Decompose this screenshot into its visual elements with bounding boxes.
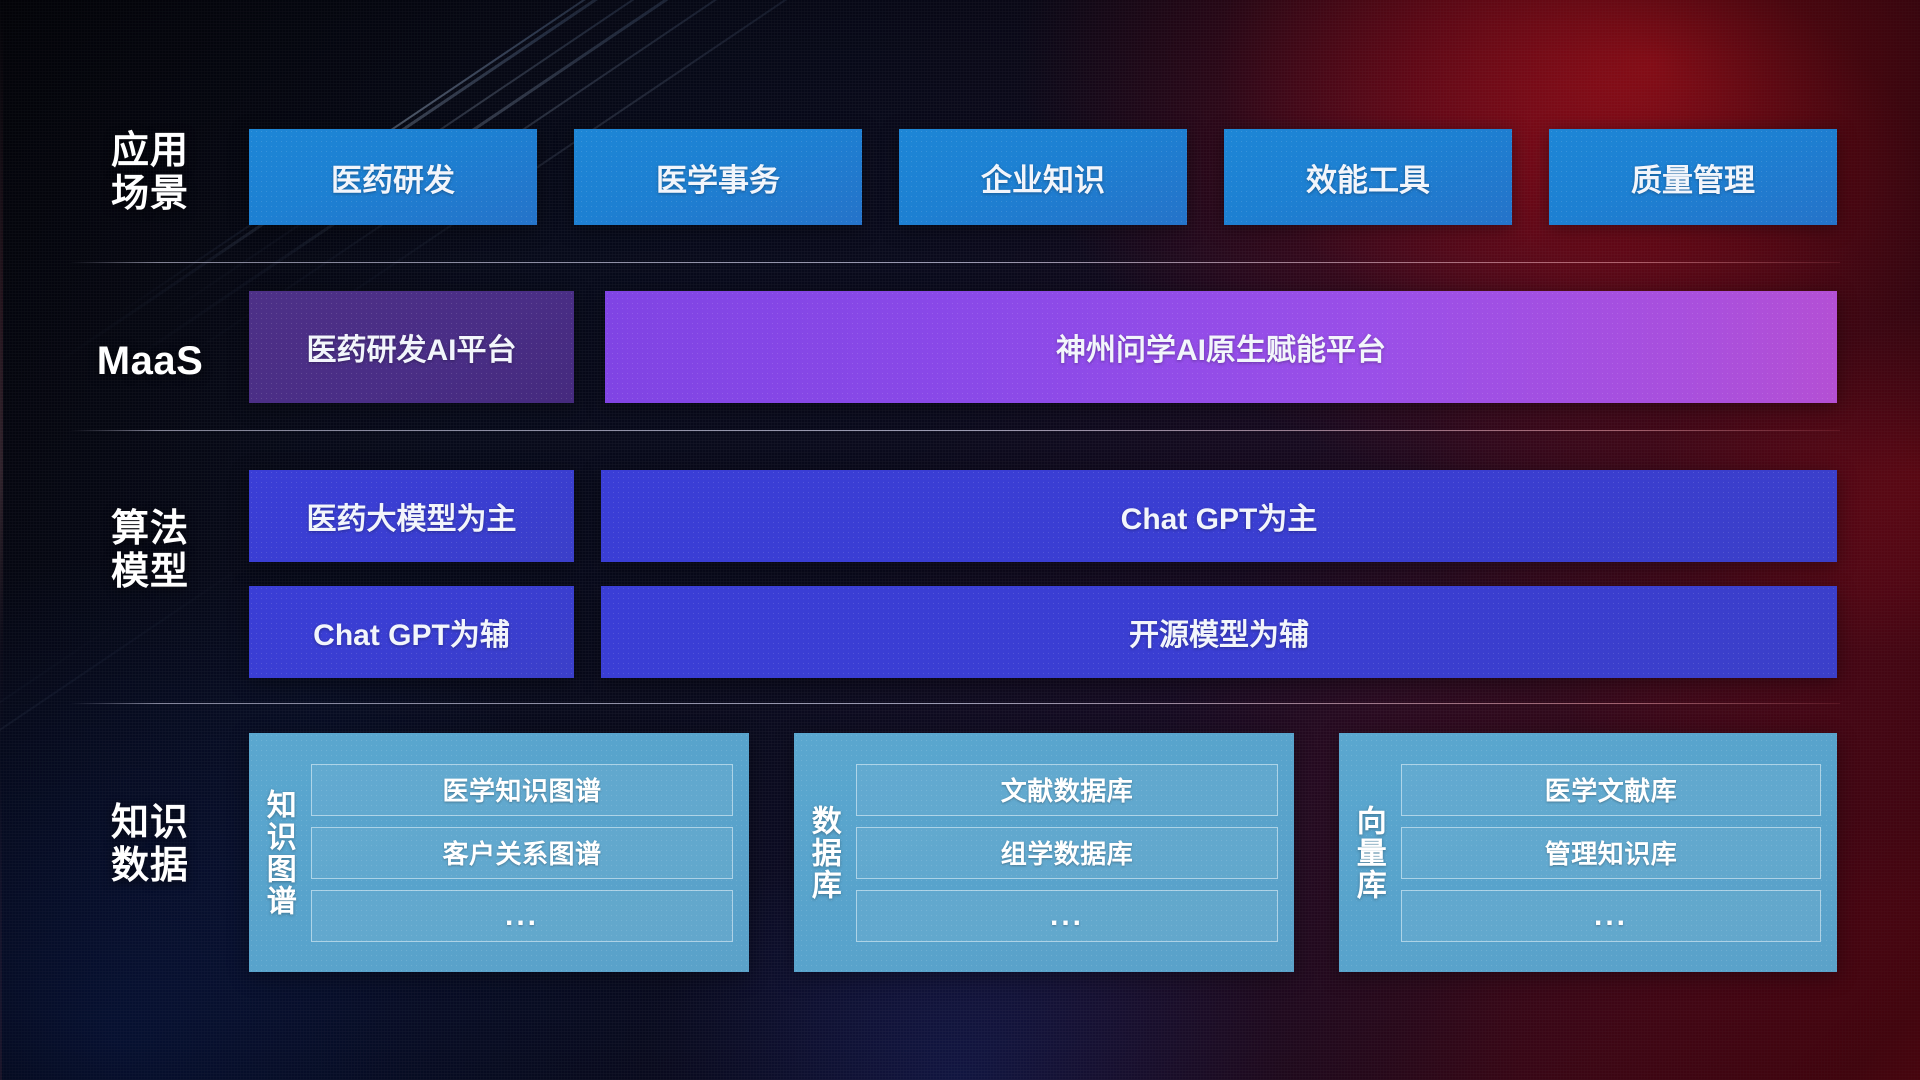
app-scenario-card-2[interactable]: 医学事务 xyxy=(574,129,862,225)
slide-canvas: 应用 场景 医药研发 医学事务 企业知识 效能工具 质量管理 MaaS xyxy=(0,0,1920,1080)
app-scenario-card-3-label: 企业知识 xyxy=(981,155,1105,200)
knowledge-item[interactable]: 管理知识库 xyxy=(1401,827,1821,879)
row-label-knowledge-line2: 数据 xyxy=(70,845,230,888)
algorithm-card-right-2-label: 开源模型为辅 xyxy=(1129,610,1309,654)
knowledge-panel-database-items: 文献数据库 组学数据库 ... xyxy=(852,733,1294,972)
algorithm-card-left-2-label: Chat GPT为辅 xyxy=(313,610,510,654)
knowledge-panel-vector-vertical-label: 向量库 xyxy=(1339,733,1397,972)
app-scenario-card-1[interactable]: 医药研发 xyxy=(249,129,537,225)
knowledge-item[interactable]: 医学知识图谱 xyxy=(311,764,733,816)
algorithm-card-left-2[interactable]: Chat GPT为辅 xyxy=(249,586,574,678)
row-label-algorithm-line2: 模型 xyxy=(70,551,230,594)
row-label-algorithm: 算法 模型 xyxy=(70,508,230,595)
knowledge-panel-database[interactable]: 数据库 文献数据库 组学数据库 ... xyxy=(794,733,1294,972)
row-label-knowledge: 知识 数据 xyxy=(70,802,230,889)
maas-card-shenzhou-platform[interactable]: 神州问学AI原生赋能平台 xyxy=(605,291,1837,403)
algorithm-card-left-1-label: 医药大模型为主 xyxy=(307,494,517,538)
app-scenario-card-4-label: 效能工具 xyxy=(1306,155,1430,200)
knowledge-item[interactable]: 组学数据库 xyxy=(856,827,1278,879)
knowledge-panel-graph-vertical-label: 知识图谱 xyxy=(249,733,307,972)
algorithm-card-right-1[interactable]: Chat GPT为主 xyxy=(601,470,1837,562)
algorithm-card-left-1[interactable]: 医药大模型为主 xyxy=(249,470,574,562)
knowledge-panel-graph[interactable]: 知识图谱 医学知识图谱 客户关系图谱 ... xyxy=(249,733,749,972)
knowledge-panel-vector-items: 医学文献库 管理知识库 ... xyxy=(1397,733,1837,972)
app-scenario-card-4[interactable]: 效能工具 xyxy=(1224,129,1512,225)
knowledge-item[interactable]: 文献数据库 xyxy=(856,764,1278,816)
knowledge-item-more[interactable]: ... xyxy=(311,890,733,942)
knowledge-panel-graph-items: 医学知识图谱 客户关系图谱 ... xyxy=(307,733,749,972)
knowledge-item[interactable]: 客户关系图谱 xyxy=(311,827,733,879)
app-scenario-card-3[interactable]: 企业知识 xyxy=(899,129,1187,225)
app-scenario-card-2-label: 医学事务 xyxy=(656,155,780,200)
row-label-application-line1: 应用 xyxy=(70,130,230,173)
divider-maas-algorithm xyxy=(70,430,1840,431)
app-scenario-card-1-label: 医药研发 xyxy=(331,155,455,200)
architecture-diagram: 应用 场景 医药研发 医学事务 企业知识 效能工具 质量管理 MaaS xyxy=(0,0,1920,1080)
row-label-application-line2: 场景 xyxy=(70,173,230,216)
knowledge-panel-vector[interactable]: 向量库 医学文献库 管理知识库 ... xyxy=(1339,733,1837,972)
algorithm-card-right-2[interactable]: 开源模型为辅 xyxy=(601,586,1837,678)
row-label-algorithm-line1: 算法 xyxy=(70,508,230,551)
row-label-knowledge-line1: 知识 xyxy=(70,802,230,845)
algorithm-card-right-1-label: Chat GPT为主 xyxy=(1121,494,1318,538)
maas-card-shenzhou-platform-label: 神州问学AI原生赋能平台 xyxy=(1056,325,1386,369)
divider-application-maas xyxy=(70,262,1840,263)
knowledge-item[interactable]: 医学文献库 xyxy=(1401,764,1821,816)
knowledge-item-more[interactable]: ... xyxy=(1401,890,1821,942)
row-label-maas-text: MaaS xyxy=(70,339,230,385)
knowledge-item-more[interactable]: ... xyxy=(856,890,1278,942)
maas-card-pharma-ai-platform-label: 医药研发AI平台 xyxy=(307,325,517,369)
row-label-application: 应用 场景 xyxy=(70,130,230,217)
divider-algorithm-knowledge xyxy=(70,703,1840,704)
app-scenario-card-5-label: 质量管理 xyxy=(1631,155,1755,200)
app-scenario-card-5[interactable]: 质量管理 xyxy=(1549,129,1837,225)
maas-card-pharma-ai-platform[interactable]: 医药研发AI平台 xyxy=(249,291,574,403)
row-label-maas: MaaS xyxy=(70,339,230,385)
knowledge-panel-database-vertical-label: 数据库 xyxy=(794,733,852,972)
